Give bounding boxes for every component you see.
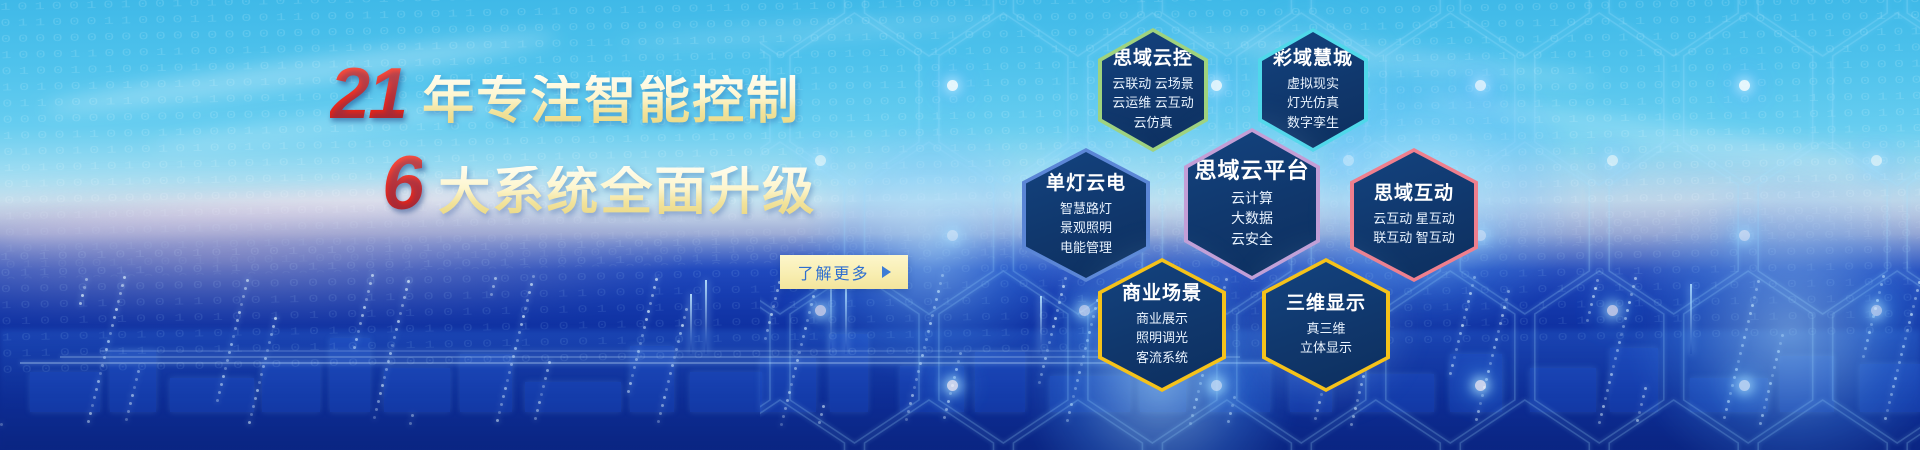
network-node — [1871, 155, 1882, 166]
network-node — [1211, 80, 1222, 91]
hex-item: 真三维 — [1300, 321, 1352, 337]
network-node — [947, 380, 958, 391]
promotional-banner: 1010010100101001010010100101001010010100… — [0, 0, 1920, 450]
hex-card-items: 真三维立体显示 — [1300, 321, 1352, 357]
hex-card-inner: 单灯云电智慧路灯景观照明电能管理 — [1026, 152, 1146, 278]
hex-item: 商业展示 — [1136, 311, 1188, 327]
hex-card-title: 思域互动 — [1374, 184, 1454, 203]
hex-item: 虚拟现实 — [1287, 76, 1339, 92]
hex-card-items: 云计算大数据云安全 — [1231, 190, 1273, 249]
headline-number-6: 6 — [382, 146, 422, 222]
hex-item: 智慧路灯 — [1060, 201, 1112, 217]
learn-more-button[interactable]: 了解更多 — [780, 255, 908, 289]
hex-card-inner: 三维显示真三维立体显示 — [1266, 262, 1386, 388]
hex-card-title: 单灯云电 — [1046, 174, 1126, 193]
hex-card-inner: 思域云控云联动 云场景云运维 云互动云仿真 — [1102, 32, 1204, 148]
headline-block: 21 年专注智能控制 6 大系统全面升级 — [330, 58, 850, 222]
hex-item: 云安全 — [1231, 231, 1273, 249]
headline-line-1: 21 年专注智能控制 — [330, 58, 850, 130]
hex-item: 电能管理 — [1060, 240, 1112, 256]
hex-card-title: 商业场景 — [1122, 284, 1202, 303]
hex-item: 云互动 星互动 — [1373, 211, 1455, 227]
hex-card-inner: 思域互动云互动 星互动联互动 智互动 — [1354, 152, 1474, 278]
hex-item: 联互动 智互动 — [1373, 230, 1455, 246]
hex-item: 大数据 — [1231, 210, 1273, 228]
headline-line-2: 6 大系统全面升级 — [382, 146, 850, 222]
network-node — [1607, 305, 1618, 316]
headline-text-2: 大系统全面升级 — [438, 166, 816, 218]
hex-item: 数字孪生 — [1287, 115, 1339, 131]
hex-card-items: 云联动 云场景云运维 云互动云仿真 — [1112, 76, 1194, 131]
hex-card-inner: 商业场景商业展示照明调光客流系统 — [1102, 262, 1222, 388]
hex-item: 云计算 — [1231, 190, 1273, 208]
hex-card-inner: 思域云平台云计算大数据云安全 — [1188, 132, 1316, 276]
hex-item: 云仿真 — [1112, 115, 1194, 131]
hex-card-items: 商业展示照明调光客流系统 — [1136, 311, 1188, 366]
network-node — [947, 80, 958, 91]
arrow-right-icon — [882, 266, 891, 278]
network-node — [1475, 380, 1486, 391]
headline-text-1: 年专注智能控制 — [422, 75, 800, 127]
network-node — [1607, 155, 1618, 166]
hex-card-inner: 彩域慧城虚拟现实灯光仿真数字孪生 — [1262, 32, 1364, 148]
hex-card-title: 思域云平台 — [1194, 160, 1309, 182]
hex-card-title: 三维显示 — [1286, 294, 1366, 313]
hex-item: 灯光仿真 — [1287, 95, 1339, 111]
hex-card-items: 云互动 星互动联互动 智互动 — [1373, 211, 1455, 247]
hex-card-title: 彩域慧城 — [1273, 49, 1353, 68]
network-node — [1739, 80, 1750, 91]
hex-card-items: 虚拟现实灯光仿真数字孪生 — [1287, 76, 1339, 131]
hex-card-items: 智慧路灯景观照明电能管理 — [1060, 201, 1112, 256]
hex-item: 景观照明 — [1060, 220, 1112, 236]
hex-item: 云运维 云互动 — [1112, 95, 1194, 111]
hex-card-title: 思域云控 — [1113, 49, 1193, 68]
learn-more-label: 了解更多 — [797, 260, 869, 284]
hex-item: 云联动 云场景 — [1112, 76, 1194, 92]
headline-number-21: 21 — [330, 58, 406, 130]
hex-item: 照明调光 — [1136, 330, 1188, 346]
hex-item: 立体显示 — [1300, 340, 1352, 356]
hex-item: 客流系统 — [1136, 350, 1188, 366]
